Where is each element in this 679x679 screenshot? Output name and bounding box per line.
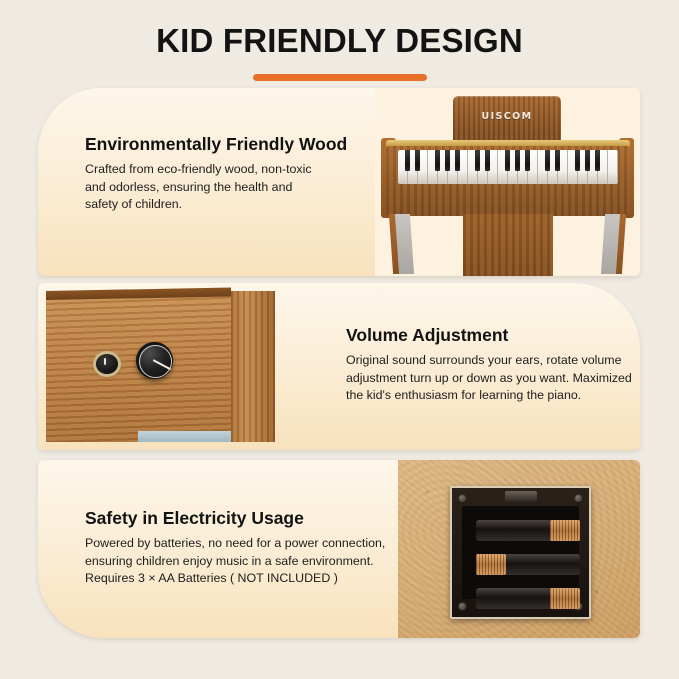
battery-compartment-photo (398, 460, 640, 638)
black-key (515, 150, 520, 171)
black-key (505, 150, 510, 171)
piano-lower-trim (138, 431, 231, 442)
feature-text-block: Volume Adjustment Original sound surroun… (346, 325, 636, 450)
battery-terminal (550, 588, 580, 609)
battery-cover-latch (505, 491, 537, 502)
black-key (575, 150, 580, 171)
battery-terminal (550, 520, 580, 541)
piano-keyboard (398, 150, 618, 184)
black-key (595, 150, 600, 171)
piano-back-panel (463, 214, 553, 276)
piano-wood-post (231, 291, 275, 442)
aa-battery (476, 554, 580, 575)
black-key (545, 150, 550, 171)
knob-indicator-dot (104, 358, 106, 365)
battery-terminal (476, 554, 506, 575)
black-key (475, 150, 480, 171)
black-key (435, 150, 440, 171)
title-underline-accent (253, 74, 427, 81)
battery-compartment-plate (450, 486, 591, 619)
screw-icon (458, 602, 467, 611)
page-title: KID FRIENDLY DESIGN (0, 24, 679, 57)
battery-bay (462, 506, 579, 599)
black-key (555, 150, 560, 171)
page-header: KID FRIENDLY DESIGN (0, 0, 679, 81)
screw-icon (458, 494, 467, 503)
volume-knob-photo (38, 283, 328, 450)
black-key (485, 150, 490, 171)
feature-title: Environmentally Friendly Wood (85, 134, 355, 154)
volume-knob (136, 342, 173, 379)
aa-battery (476, 588, 580, 609)
feature-panel-volume-adjustment: Volume Adjustment Original sound surroun… (38, 283, 640, 450)
black-key (445, 150, 450, 171)
feature-title: Volume Adjustment (346, 325, 636, 345)
screw-icon (574, 494, 583, 503)
feature-text-block: Safety in Electricity Usage Powered by b… (85, 508, 415, 638)
white-key (608, 150, 618, 184)
piano-leg-left (395, 214, 414, 274)
black-key (455, 150, 460, 171)
toy-piano-illustration: UISCOM (375, 88, 640, 276)
feature-panel-environmentally-friendly-wood: Environmentally Friendly Wood Crafted fr… (38, 88, 640, 276)
black-key (405, 150, 410, 171)
aa-battery (476, 520, 580, 541)
feature-text-block: Environmentally Friendly Wood Crafted fr… (85, 134, 355, 276)
toy-piano-photo: UISCOM (375, 88, 640, 276)
feature-panel-safety-in-electricity-usage: Safety in Electricity Usage Powered by b… (38, 460, 640, 638)
black-key (415, 150, 420, 171)
brand-logo: UISCOM (453, 111, 561, 122)
power-switch-knob (96, 354, 118, 374)
feature-description: Crafted from eco-friendly wood, non-toxi… (85, 161, 355, 214)
black-key (585, 150, 590, 171)
piano-music-rest: UISCOM (453, 96, 561, 144)
feature-description: Powered by batteries, no need for a powe… (85, 535, 415, 588)
infographic-page: KID FRIENDLY DESIGN Environmentally Frie… (0, 0, 679, 679)
feature-title: Safety in Electricity Usage (85, 508, 415, 528)
feature-description: Original sound surrounds your ears, rota… (346, 352, 636, 405)
black-key (525, 150, 530, 171)
